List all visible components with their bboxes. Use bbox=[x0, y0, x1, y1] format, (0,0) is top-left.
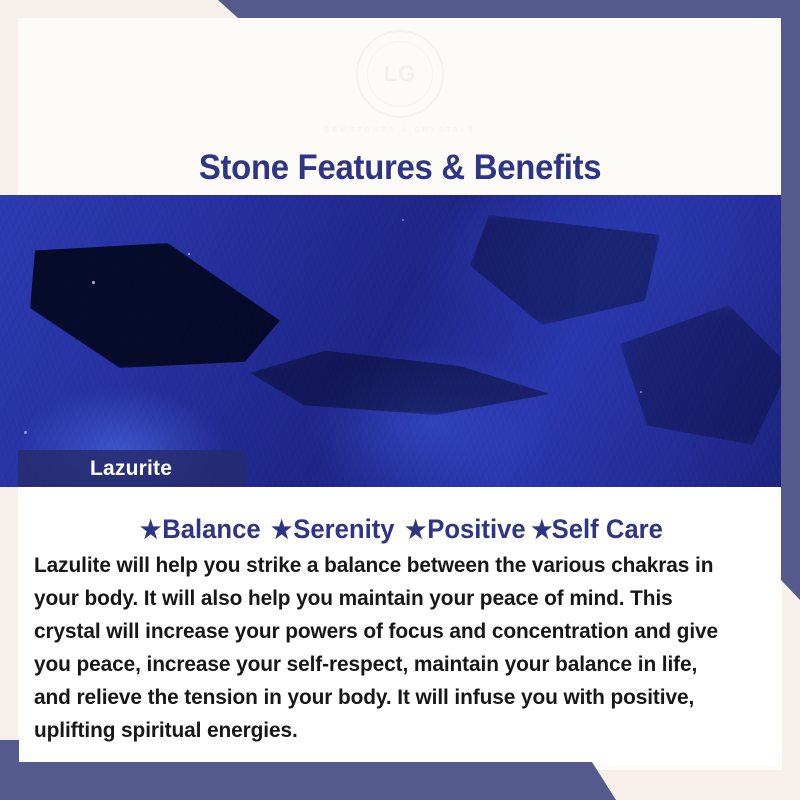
benefits-list: ★Balance★Serenity★Positive★Self Care bbox=[37, 514, 763, 545]
stone-name-text: Lazurite bbox=[90, 457, 172, 481]
star-icon: ★ bbox=[271, 516, 292, 544]
decor-bar-right bbox=[781, 0, 800, 600]
benefit-item-balance: Balance bbox=[162, 514, 260, 544]
stone-sparkle bbox=[402, 219, 404, 221]
page-title: Stone Features & Benefits bbox=[199, 148, 601, 188]
star-icon: ★ bbox=[405, 516, 426, 544]
star-icon: ★ bbox=[140, 516, 161, 544]
benefit-item-positive: Positive bbox=[427, 514, 525, 544]
stone-surface-sheen bbox=[0, 195, 800, 487]
benefit-item-serenity: Serenity bbox=[293, 514, 394, 544]
decor-bar-top bbox=[0, 0, 800, 18]
infographic-card: LG GEMSTONES & CRYSTALS Stone Features &… bbox=[0, 0, 800, 800]
benefit-item-self-care: Self Care bbox=[552, 514, 663, 544]
star-icon: ★ bbox=[531, 516, 552, 544]
decor-bar-left-foot bbox=[0, 740, 19, 800]
stone-sparkle bbox=[92, 281, 95, 284]
title-band: Stone Features & Benefits bbox=[165, 140, 635, 196]
stone-name-label: Lazurite bbox=[18, 450, 246, 488]
stone-photo bbox=[0, 195, 800, 487]
stone-description: Lazulite will help you strike a balance … bbox=[34, 549, 730, 747]
description-card: ★Balance★Serenity★Positive★Self Care Laz… bbox=[18, 487, 782, 765]
stone-sparkle bbox=[188, 253, 190, 255]
stone-sparkle bbox=[24, 431, 27, 434]
stone-sparkle bbox=[640, 391, 642, 393]
